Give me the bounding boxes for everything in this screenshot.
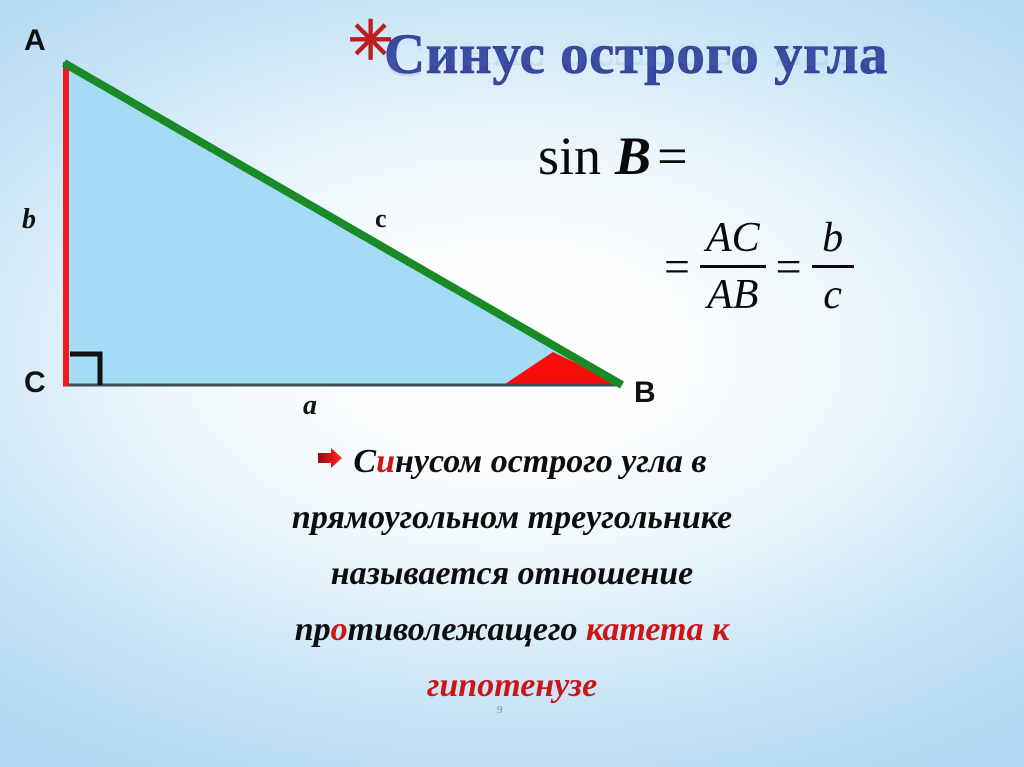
formula-line-fractions: = AC AB = b c — [654, 214, 854, 319]
definition-highlight-i: и — [376, 443, 395, 480]
formula-sin-label: sin — [538, 126, 601, 186]
fraction-numerator-ac: AC — [700, 214, 766, 262]
definition-line-3: называется отношение — [96, 546, 928, 602]
fraction-bar — [700, 265, 766, 268]
formula-block: sinB= = AC AB = b c — [520, 126, 1024, 346]
definition-line-5: гипотенузе — [96, 658, 928, 714]
fraction-denominator-ab: AB — [701, 271, 764, 319]
fraction-ac-over-ab: AC AB — [700, 214, 766, 319]
formula-equals-2: = — [654, 240, 700, 293]
fraction-numerator-b: b — [816, 214, 849, 262]
definition-line-4: противолежащего катета к — [96, 602, 928, 658]
fraction-bar — [812, 265, 854, 268]
formula-equals-1: = — [657, 126, 687, 186]
definition-highlight-o: о — [331, 611, 348, 648]
definition-rest-4: тиволежащего — [348, 611, 586, 648]
formula-angle-b: B — [615, 126, 651, 186]
definition-word-pr: пр — [295, 611, 331, 648]
arrow-right-icon — [317, 432, 343, 488]
formula-line-sin-b: sinB= — [538, 126, 688, 186]
side-label-b: b — [22, 206, 36, 234]
vertex-label-a: A — [24, 26, 46, 56]
formula-equals-3: = — [766, 240, 812, 293]
definition-word-s: С — [353, 443, 376, 480]
side-label-c: c — [375, 205, 387, 233]
vertex-label-b: B — [634, 378, 656, 408]
slide-number: 9 — [497, 704, 503, 716]
side-label-a: a — [303, 392, 317, 420]
definition-highlight-kateta: катета к — [586, 611, 729, 648]
vertex-label-c: C — [24, 368, 46, 398]
slide-canvas: ✳ Синус острого угла Синус острого угла … — [0, 0, 1024, 767]
fraction-b-over-c: b c — [812, 214, 854, 319]
fraction-denominator-c: c — [817, 271, 848, 319]
definition-line-2: прямоугольном треугольнике — [96, 490, 928, 546]
definition-text-block: Синусом острого угла в прямоугольном тре… — [96, 432, 928, 714]
definition-rest-1: нусом острого угла в — [395, 443, 707, 480]
definition-line-1: Синусом острого угла в — [96, 432, 928, 490]
